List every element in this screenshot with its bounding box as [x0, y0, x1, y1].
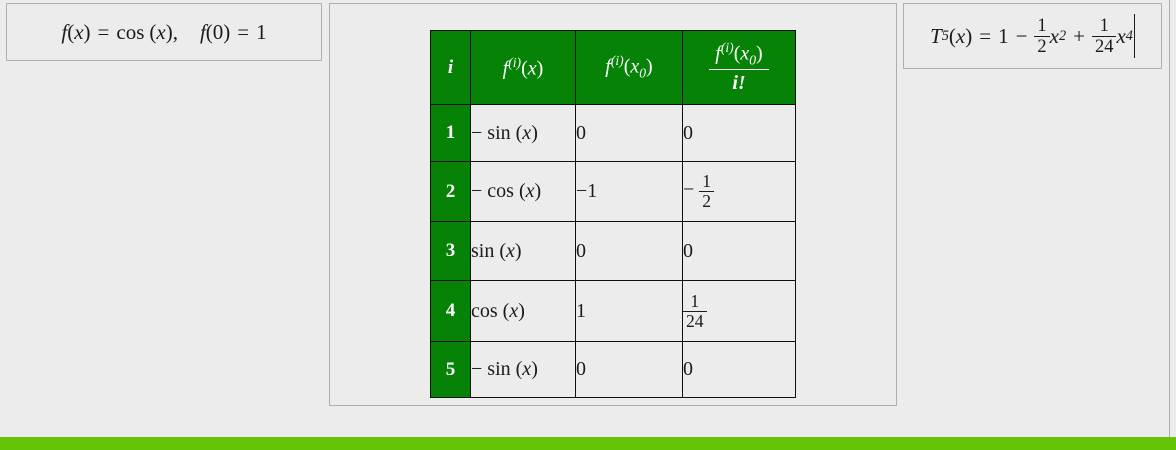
derivative-table-panel[interactable]: i f(i)(x) f(i)(x0) f(i)(x0) i! 1 [329, 3, 897, 406]
derivative-sign: − [471, 180, 482, 202]
header-sup-i-2: (i) [611, 53, 624, 68]
header-lparen: ( [521, 57, 528, 79]
header-derivative-at-x0: f(i)(x0) [576, 31, 683, 105]
row-index: 2 [431, 162, 471, 222]
table-body: 1 −sin(x) 0 0 2 −cos(x) −1 −12 3 [431, 105, 796, 398]
row-derivative: −sin(x) [471, 342, 576, 398]
table-row: 2 −cos(x) −1 −12 [431, 162, 796, 222]
right-edge-divider [1169, 0, 1170, 437]
table-header-row: i f(i)(x) f(i)(x0) f(i)(x0) i! [431, 31, 796, 105]
row-value-at-x0: 0 [576, 342, 683, 398]
row-derivative: cos(x) [471, 281, 576, 342]
math-zero: 0 [213, 20, 224, 45]
row-coefficient: 0 [683, 105, 796, 162]
math-equals: = [98, 20, 110, 45]
header-x: x [528, 57, 537, 79]
math-equals-2: = [237, 20, 249, 45]
row-derivative: −sin(x) [471, 105, 576, 162]
math-x-2: x [156, 20, 165, 45]
row-index: 5 [431, 342, 471, 398]
row-value-at-x0: 1 [576, 281, 683, 342]
math-one-twentyfourth-num: 1 [1092, 16, 1116, 36]
math-x-fourth-exp: 4 [1126, 28, 1133, 45]
derivative-sign: − [471, 122, 482, 144]
derivative-function: sin [471, 240, 494, 262]
math-one: 1 [256, 20, 267, 45]
coefficient-denominator: 2 [699, 191, 714, 211]
math-x-fourth-base: x [1116, 24, 1125, 49]
math-lparen-3: ( [206, 20, 213, 45]
math-one-half: 12 [1034, 16, 1049, 56]
math-one-half-den: 2 [1034, 36, 1049, 57]
row-index: 4 [431, 281, 471, 342]
math-comma: , [173, 20, 178, 45]
math-T: T [930, 24, 942, 49]
math-lparen: ( [949, 24, 956, 49]
header-sup-i: (i) [508, 55, 521, 70]
math-x-squared-base: x [1050, 24, 1059, 49]
row-derivative: −cos(x) [471, 162, 576, 222]
header-coefficient-fraction: f(i)(x0) i! [709, 40, 768, 95]
taylor-polynomial-formula: T5(x)=1−12x2+124x4 [904, 4, 1161, 68]
math-rparen: ) [965, 24, 972, 49]
math-one-twentyfourth-den: 24 [1092, 36, 1116, 57]
math-x: x [956, 24, 965, 49]
row-coefficient: 0 [683, 342, 796, 398]
math-rparen: ) [84, 20, 91, 45]
coefficient-fraction: 12 [699, 172, 714, 210]
row-coefficient: 124 [683, 281, 796, 342]
header-coefficient: f(i)(x0) i! [683, 31, 796, 105]
row-coefficient: −12 [683, 162, 796, 222]
derivative-table: i f(i)(x) f(i)(x0) f(i)(x0) i! 1 [430, 30, 796, 398]
coefficient-sign: − [683, 179, 694, 201]
math-one: 1 [998, 24, 1009, 49]
taylor-polynomial-panel[interactable]: T5(x)=1−12x2+124x4 [903, 3, 1162, 69]
math-one-twentyfourth: 124 [1092, 16, 1116, 56]
row-derivative: sin(x) [471, 222, 576, 281]
math-T-order: 5 [942, 28, 949, 45]
function-definition-panel[interactable]: f(x)=cos(x),f(0)=1 [6, 3, 322, 61]
coefficient-numerator: 1 [699, 172, 714, 191]
math-rparen-3: ) [223, 20, 230, 45]
derivative-function: cos [471, 300, 498, 322]
header-x-2: x [630, 56, 639, 78]
bottom-accent-bar [0, 437, 1176, 450]
math-one-half-num: 1 [1034, 16, 1049, 36]
math-x: x [74, 20, 83, 45]
table-row: 4 cos(x) 1 124 [431, 281, 796, 342]
row-value-at-x0: 0 [576, 105, 683, 162]
table-row: 1 −sin(x) 0 0 [431, 105, 796, 162]
derivative-function: sin [487, 358, 510, 380]
row-value-at-x0: 0 [576, 222, 683, 281]
header-rparen: ) [537, 57, 544, 79]
math-equals: = [979, 24, 991, 49]
row-coefficient: 0 [683, 222, 796, 281]
math-minus: − [1016, 24, 1028, 49]
row-value-at-x0: −1 [576, 162, 683, 222]
derivative-sign: − [471, 358, 482, 380]
header-index: i [431, 31, 471, 105]
math-x-squared-exp: 2 [1059, 28, 1066, 45]
math-plus: + [1073, 24, 1085, 49]
coefficient-denominator: 24 [683, 311, 707, 331]
header-coefficient-denominator: i! [709, 69, 768, 95]
table-header: i f(i)(x) f(i)(x0) f(i)(x0) i! [431, 31, 796, 105]
derivative-function: sin [487, 122, 510, 144]
row-index: 3 [431, 222, 471, 281]
table-row: 5 −sin(x) 0 0 [431, 342, 796, 398]
table-row: 3 sin(x) 0 0 [431, 222, 796, 281]
function-definition-formula: f(x)=cos(x),f(0)=1 [7, 4, 321, 60]
coefficient-fraction: 124 [683, 292, 707, 330]
header-rparen-2: ) [646, 56, 653, 78]
text-cursor-caret [1134, 14, 1135, 58]
row-index: 1 [431, 105, 471, 162]
header-coefficient-numerator: f(i)(x0) [709, 40, 768, 69]
header-derivative: f(i)(x) [471, 31, 576, 105]
coefficient-numerator: 1 [683, 292, 707, 311]
math-rparen-2: ) [166, 20, 173, 45]
math-cos: cos [116, 20, 144, 45]
derivative-function: cos [487, 180, 514, 202]
